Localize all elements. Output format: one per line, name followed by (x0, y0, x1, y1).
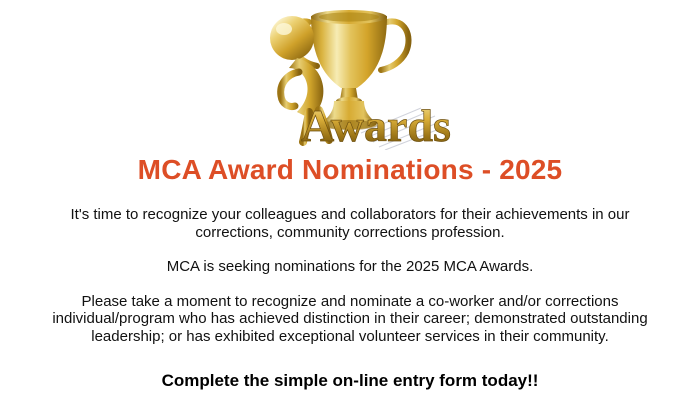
awards-trophy-graphic: Awards (235, 0, 465, 150)
page-title: MCA Award Nominations - 2025 (138, 156, 563, 184)
paragraph-nomination-criteria: Please take a moment to recognize and no… (30, 293, 670, 346)
paragraph-intro: It's time to recognize your colleagues a… (70, 206, 630, 241)
call-to-action-text: Complete the simple on-line entry form t… (20, 371, 680, 391)
body-copy: It's time to recognize your colleagues a… (20, 206, 680, 408)
announcement-page: Awards MCA Award Nominations - 2025 It's… (0, 0, 700, 409)
paragraph-seeking-nominations: MCA is seeking nominations for the 2025 … (20, 258, 680, 276)
awards-wordmark: Awards (301, 100, 451, 150)
